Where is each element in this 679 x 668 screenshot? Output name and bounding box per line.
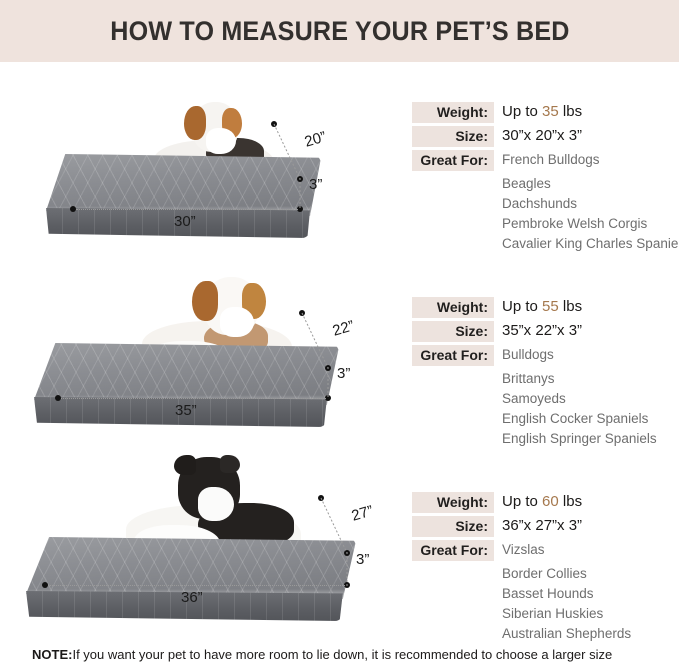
weight-number: 55 [542,298,559,315]
dim-label-width: 30” [174,213,196,230]
bed-row-medium: 22” 3” 35” Weight: Up to 55 lbs Size: 35… [0,255,679,430]
dim-line-width [48,585,345,586]
spec-greatfor-row: Great For: Bulldogs [412,345,679,366]
breed-item: Pembroke Welsh Corgis [502,214,679,234]
great-for-label: Great For: [412,540,494,561]
breed-item: Border Collies [502,564,679,584]
breed-item: Dachshunds [502,194,679,214]
breed-item: Cavalier King Charles Spaniels [502,234,679,254]
dim-label-width: 35” [175,402,197,419]
weight-value: Up to 60 lbs [494,492,582,511]
footer-note: NOTE:If you want your pet to have more r… [32,646,672,663]
page-title: HOW TO MEASURE YOUR PET’S BED [110,16,569,47]
weight-label: Weight: [412,102,494,123]
breed-item-first: French Bulldogs [494,150,600,169]
spec-weight-row: Weight: Up to 60 lbs [412,492,679,513]
dim-label-height: 3” [309,176,322,193]
breed-item-first: Vizslas [494,540,545,559]
weight-value: Up to 55 lbs [494,297,582,316]
size-value: 35”x 22”x 3” [494,321,582,340]
breed-item: Siberian Huskies [502,604,679,624]
weight-number: 60 [542,493,559,510]
size-label: Size: [412,321,494,342]
dim-line-width [61,398,326,399]
spec-panel-large: Weight: Up to 60 lbs Size: 36”x 27”x 3” … [412,492,679,644]
breed-item: Basset Hounds [502,584,679,604]
weight-prefix: Up to [502,493,538,510]
spec-weight-row: Weight: Up to 35 lbs [412,102,679,123]
breed-item: Australian Shepherds [502,624,679,644]
spec-size-row: Size: 36”x 27”x 3” [412,516,679,537]
weight-value: Up to 35 lbs [494,102,582,121]
breed-item-first: Bulldogs [494,345,554,364]
size-value: 30”x 20”x 3” [494,126,582,145]
size-label: Size: [412,516,494,537]
spec-greatfor-row: Great For: French Bulldogs [412,150,679,171]
bed-row-large: 27” 3” 36” Weight: Up to 60 lbs Size: 36… [0,437,679,622]
weight-suffix: lbs [563,103,582,120]
weight-prefix: Up to [502,103,538,120]
size-value: 36”x 27”x 3” [494,516,582,535]
breed-item: Samoyeds [502,389,679,409]
weight-suffix: lbs [563,298,582,315]
dim-label-height: 3” [337,365,350,382]
bed-row-small: 20” 3” 30” Weight: Up to 35 lbs Size: 30… [0,72,679,242]
size-label: Size: [412,126,494,147]
spec-panel-medium: Weight: Up to 55 lbs Size: 35”x 22”x 3” … [412,297,679,449]
weight-suffix: lbs [563,493,582,510]
great-for-label: Great For: [412,345,494,366]
weight-label: Weight: [412,492,494,513]
note-prefix: NOTE: [32,647,72,662]
spec-weight-row: Weight: Up to 55 lbs [412,297,679,318]
breed-item: English Cocker Spaniels [502,409,679,429]
dim-label-width: 36” [181,589,203,606]
breed-item: Brittanys [502,369,679,389]
weight-label: Weight: [412,297,494,318]
note-text: If you want your pet to have more room t… [72,647,612,662]
spec-size-row: Size: 30”x 20”x 3” [412,126,679,147]
weight-number: 35 [542,103,559,120]
breed-list-small: Beagles Dachshunds Pembroke Welsh Corgis… [502,174,679,254]
weight-prefix: Up to [502,298,538,315]
dim-line-width [76,209,298,210]
spec-greatfor-row: Great For: Vizslas [412,540,679,561]
spec-panel-small: Weight: Up to 35 lbs Size: 30”x 20”x 3” … [412,102,679,254]
spec-size-row: Size: 35”x 22”x 3” [412,321,679,342]
breed-item: Beagles [502,174,679,194]
great-for-label: Great For: [412,150,494,171]
breed-list-large: Border Collies Basset Hounds Siberian Hu… [502,564,679,644]
page-header-band: HOW TO MEASURE YOUR PET’S BED [0,0,679,62]
dim-label-height: 3” [356,551,369,568]
